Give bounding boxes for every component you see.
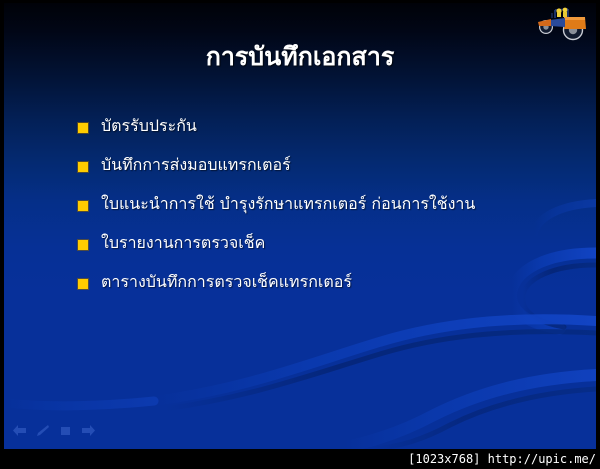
bullet-square-icon	[78, 162, 88, 172]
bullet-square-icon	[78, 123, 88, 133]
list-item-label: บัตรรับประกัน	[101, 115, 197, 137]
arrow-left-icon[interactable]	[12, 424, 27, 437]
bullet-list: บัตรรับประกัน บันทึกการส่งมอบแทรกเตอร์ ใ…	[78, 115, 578, 310]
tractor-logo	[528, 4, 590, 42]
page-title: การบันทึกเอกสาร	[4, 41, 596, 73]
stop-square-icon[interactable]	[58, 424, 73, 437]
pen-icon[interactable]	[35, 424, 50, 437]
slideshow-nav-strip[interactable]	[12, 424, 96, 437]
list-item: บัตรรับประกัน	[78, 115, 578, 154]
list-item-label: ใบรายงานการตรวจเช็ค	[101, 232, 265, 254]
slide-root: การบันทึกเอกสาร บัตรรับประกัน บันทึกการส…	[0, 0, 600, 469]
watermark-text: [1023x768] http://upic.me/	[408, 451, 596, 467]
list-item-label: บันทึกการส่งมอบแทรกเตอร์	[101, 154, 291, 176]
list-item: ตารางบันทึกการตรวจเช็คแทรกเตอร์	[78, 271, 578, 310]
slide-canvas: การบันทึกเอกสาร บัตรรับประกัน บันทึกการส…	[4, 3, 596, 449]
arrow-right-icon[interactable]	[81, 424, 96, 437]
bullet-square-icon	[78, 279, 88, 289]
list-item-label: ใบแนะนำการใช้ บำรุงรักษาแทรกเตอร์ ก่อนกา…	[101, 193, 475, 215]
bullet-square-icon	[78, 201, 88, 211]
list-item: ใบแนะนำการใช้ บำรุงรักษาแทรกเตอร์ ก่อนกา…	[78, 193, 578, 232]
list-item: บันทึกการส่งมอบแทรกเตอร์	[78, 154, 578, 193]
list-item-label: ตารางบันทึกการตรวจเช็คแทรกเตอร์	[101, 271, 352, 293]
footer-bar: [1023x768] http://upic.me/	[0, 449, 600, 469]
bullet-square-icon	[78, 240, 88, 250]
list-item: ใบรายงานการตรวจเช็ค	[78, 232, 578, 271]
